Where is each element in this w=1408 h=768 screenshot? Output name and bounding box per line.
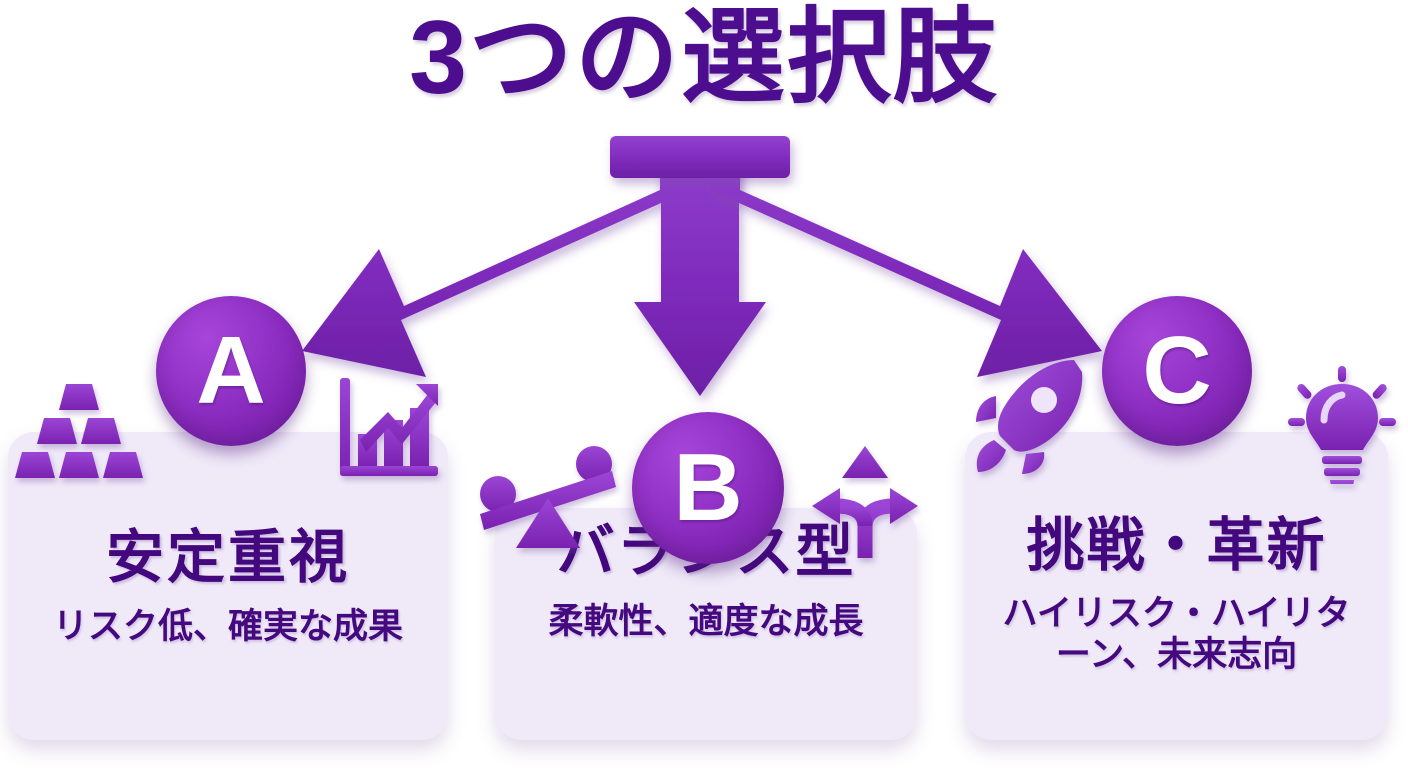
badge-c[interactable]: C xyxy=(1102,296,1252,446)
lightbulb-icon xyxy=(1288,366,1396,484)
arrow-down-left-icon xyxy=(302,141,690,377)
badge-a[interactable]: A xyxy=(156,296,306,446)
infographic-canvas: 3つの選択肢 安定重視 xyxy=(0,0,1408,768)
seesaw-balance-icon xyxy=(476,442,618,550)
badge-a-label: A xyxy=(196,316,265,426)
arrow-down-right-icon xyxy=(710,141,1102,377)
gold-bars-icon xyxy=(14,378,144,490)
option-a-headline: 安定重視 xyxy=(8,528,448,589)
option-c-subtitle: ハイリスク・ハイリターン、未来志向 xyxy=(965,594,1388,675)
arrow-down-icon xyxy=(634,141,766,396)
three-way-arrows-icon xyxy=(806,440,924,562)
arrow-trunk xyxy=(610,136,790,178)
badge-c-label: C xyxy=(1142,316,1211,426)
page-title: 3つの選択肢 xyxy=(0,2,1408,114)
option-b-subtitle: 柔軟性、適度な成長 xyxy=(495,602,917,643)
badge-b-label: B xyxy=(673,433,742,543)
option-c-headline: 挑戦・革新 xyxy=(965,516,1388,577)
growth-chart-icon xyxy=(332,372,444,486)
option-a-subtitle: リスク低、確実な成果 xyxy=(8,607,448,648)
rocket-icon xyxy=(966,354,1088,478)
badge-b[interactable]: B xyxy=(632,412,784,564)
